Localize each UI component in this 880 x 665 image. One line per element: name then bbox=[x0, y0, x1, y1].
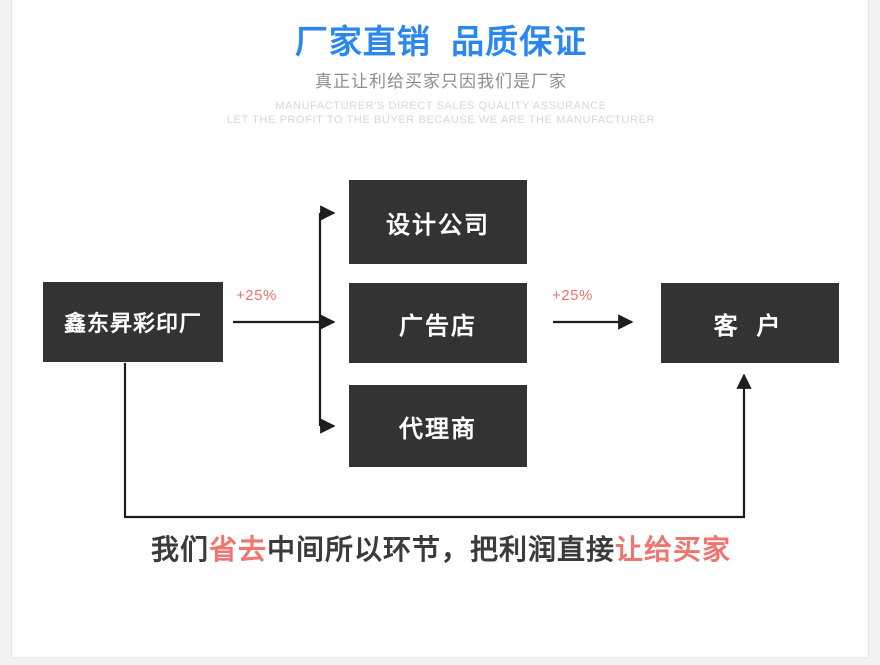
node-agent[interactable]: 代理商 bbox=[349, 385, 527, 467]
node-customer-label: 客 户 bbox=[714, 306, 787, 341]
footer-highlight-2: 让给买家 bbox=[615, 534, 731, 565]
footer-highlight-1: 省去 bbox=[209, 534, 267, 565]
markup-label-left: +25% bbox=[236, 287, 277, 304]
footer-text-part-1: 我们 bbox=[151, 534, 209, 565]
content-card: 厂家直销 品质保证 真正让利给买家只因我们是厂家 MANUFACTURER'S … bbox=[11, 0, 869, 658]
node-customer[interactable]: 客 户 bbox=[661, 283, 839, 363]
node-ad-shop-label: 广告店 bbox=[399, 306, 477, 341]
footer-text-part-2: 中间所以环节，把利润直接 bbox=[267, 534, 615, 565]
footer-caption: 我们省去中间所以环节，把利润直接让给买家 bbox=[12, 530, 870, 570]
node-ad-shop[interactable]: 广告店 bbox=[349, 283, 527, 363]
node-design-company-label: 设计公司 bbox=[386, 205, 490, 240]
node-factory[interactable]: 鑫东昇彩印厂 bbox=[43, 282, 223, 362]
node-agent-label: 代理商 bbox=[399, 409, 477, 444]
node-design-company[interactable]: 设计公司 bbox=[349, 180, 527, 264]
page-root: 厂家直销 品质保证 真正让利给买家只因我们是厂家 MANUFACTURER'S … bbox=[0, 0, 880, 665]
node-factory-label: 鑫东昇彩印厂 bbox=[64, 306, 202, 338]
markup-label-right: +25% bbox=[552, 287, 593, 304]
